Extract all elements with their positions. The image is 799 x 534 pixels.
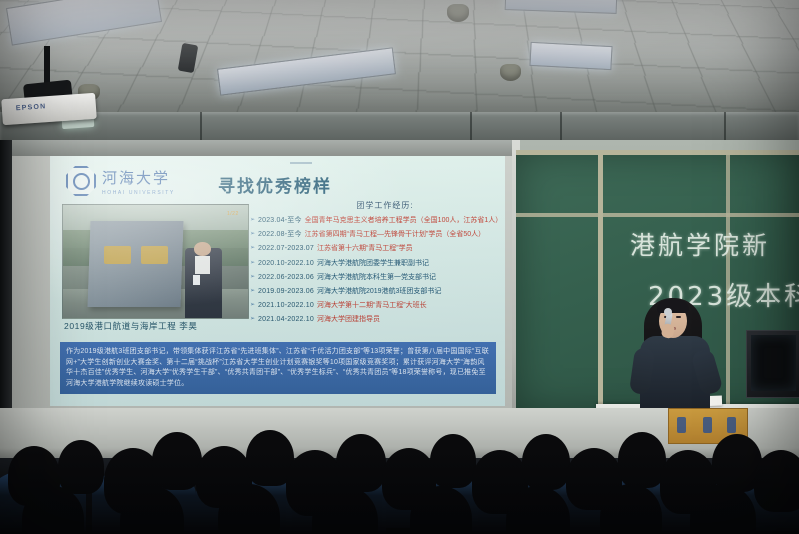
list-item: ➢ 2020.10-2022.10 河海大学港航院团委学生兼职副书记 [250,259,498,268]
list-item-date: 2020.10-2022.10 [258,259,314,268]
ceiling [0,0,799,128]
photo-student-shirt [195,256,210,274]
list-item-text: 江苏省第十六期“青马工程”学员 [317,244,413,253]
list-item-date: 2021.10-2022.10 [258,301,314,310]
blackboard-frame-middle [516,213,799,217]
monitor [746,330,799,398]
list-item-date: 2022.07-2023.07 [258,244,314,253]
chevron-right-icon: ➢ [250,287,255,296]
photo-stone-character [104,246,132,264]
list-item-date: 2022.06-2023.06 [258,273,314,282]
list-item: ➢ 2021.04-2022.10 河海大学团建指导员 [250,315,498,324]
poster-figure [703,417,712,433]
list-item-text: 河海大学港航院2019港航3班团支部书记 [317,287,441,296]
student-photo: 1/22 [62,204,249,319]
chevron-right-icon: ➢ [250,230,255,239]
list-item-text: 河海大学团建指导员 [317,315,380,324]
blackboard-frame-divider [598,150,603,412]
speaker-person [618,296,728,414]
list-item: ➢ 2022.06-2023.06 河海大学港航院本科生第一党支部书记 [250,273,498,282]
list-item-text: 江苏省第四期“青马工程—先锋骨干计划”学员（全省50人） [305,230,485,239]
list-item-date: 2021.04-2022.10 [258,315,314,324]
logo-english-name: HOHAI UNIVERSITY [102,190,175,196]
photo-campus-stone [87,221,182,307]
audience-area [0,408,799,534]
poster-figure [677,417,686,433]
blackboard-text-line1: 港航学院新 [630,226,770,262]
list-item-text: 河海大学港航院团委学生兼职副书记 [317,259,429,268]
poster-figure [727,417,736,433]
speaker-fringe [657,300,689,313]
photo-stone-character [141,246,169,264]
chevron-right-icon: ➢ [250,259,255,268]
projection-screen-top-bar [12,140,512,156]
list-item-text: 河海大学港航院本科生第一党支部书记 [317,273,436,282]
list-item: ➢ 2023.04-至今 全国青年马克思主义者培养工程学员（全国100人，江苏省… [250,216,498,225]
list-item-date: 2023.04-至今 [258,216,302,225]
list-item-text: 全国青年马克思主义者培养工程学员（全国100人，江苏省1人） [305,216,503,225]
slide-title: 寻找优秀榜样 [218,172,332,197]
speaker-eye [676,316,681,318]
lecture-hall-photo: EPSON 港航学院新 2023级本科 河海大学 HOHAI UNIVERSIT… [0,0,799,534]
wall-corner-edge [0,140,12,440]
chevron-right-icon: ➢ [250,273,255,282]
chevron-right-icon: ➢ [250,244,255,253]
audience-shadow-gradient [0,448,799,534]
title-accent-dash [290,162,312,164]
chevron-right-icon: ➢ [250,315,255,324]
photo-date-stamp: 1/22 [227,211,239,217]
university-logo: 河海大学 HOHAI UNIVERSITY [66,166,175,196]
list-item: ➢ 2021.10-2022.10 河海大学第十二期“青马工程”大班长 [250,301,498,310]
achievement-summary-text: 作为2019级港航3班团支部书记，带领集体获评江苏省“先进班集体”、江苏省“千优… [66,347,490,389]
ceiling-shading [0,0,799,128]
photo-caption: 2019级港口航道与海岸工程 李昊 [64,320,197,332]
list-item: ➢ 2022.07-2023.07 江苏省第十六期“青马工程”学员 [250,244,498,253]
chevron-right-icon: ➢ [250,301,255,310]
chevron-right-icon: ➢ [250,216,255,225]
projector-brand-label: EPSON [16,103,47,112]
blackboard-frame-top [516,150,799,155]
photo-student-head [194,242,211,256]
emblem-inner-ring [73,173,90,190]
hohai-emblem-icon [66,166,96,196]
photo-student-badge [193,275,200,285]
logo-chinese-name: 河海大学 [102,167,175,188]
monitor-screen [751,335,796,391]
list-item: ➢ 2019.09-2023.06 河海大学港航院2019港航3班团支部书记 [250,287,498,296]
microphone-head [664,308,672,316]
list-item-date: 2022.08-至今 [258,230,302,239]
experience-list: 团学工作经历: ➢ 2023.04-至今 全国青年马克思主义者培养工程学员（全国… [250,200,498,330]
presentation-slide: 河海大学 HOHAI UNIVERSITY 寻找优秀榜样 1/22 2019级港… [50,156,505,406]
list-item-date: 2019.09-2023.06 [258,287,314,296]
achievement-summary-box: 作为2019级港航3班团支部书记，带领集体获评江苏省“先进班集体”、江苏省“千优… [60,342,496,394]
experience-list-heading: 团学工作经历: [272,200,498,211]
list-item-text: 河海大学第十二期“青马工程”大班长 [317,301,427,310]
list-item: ➢ 2022.08-至今 江苏省第四期“青马工程—先锋骨干计划”学员（全省50人… [250,230,498,239]
